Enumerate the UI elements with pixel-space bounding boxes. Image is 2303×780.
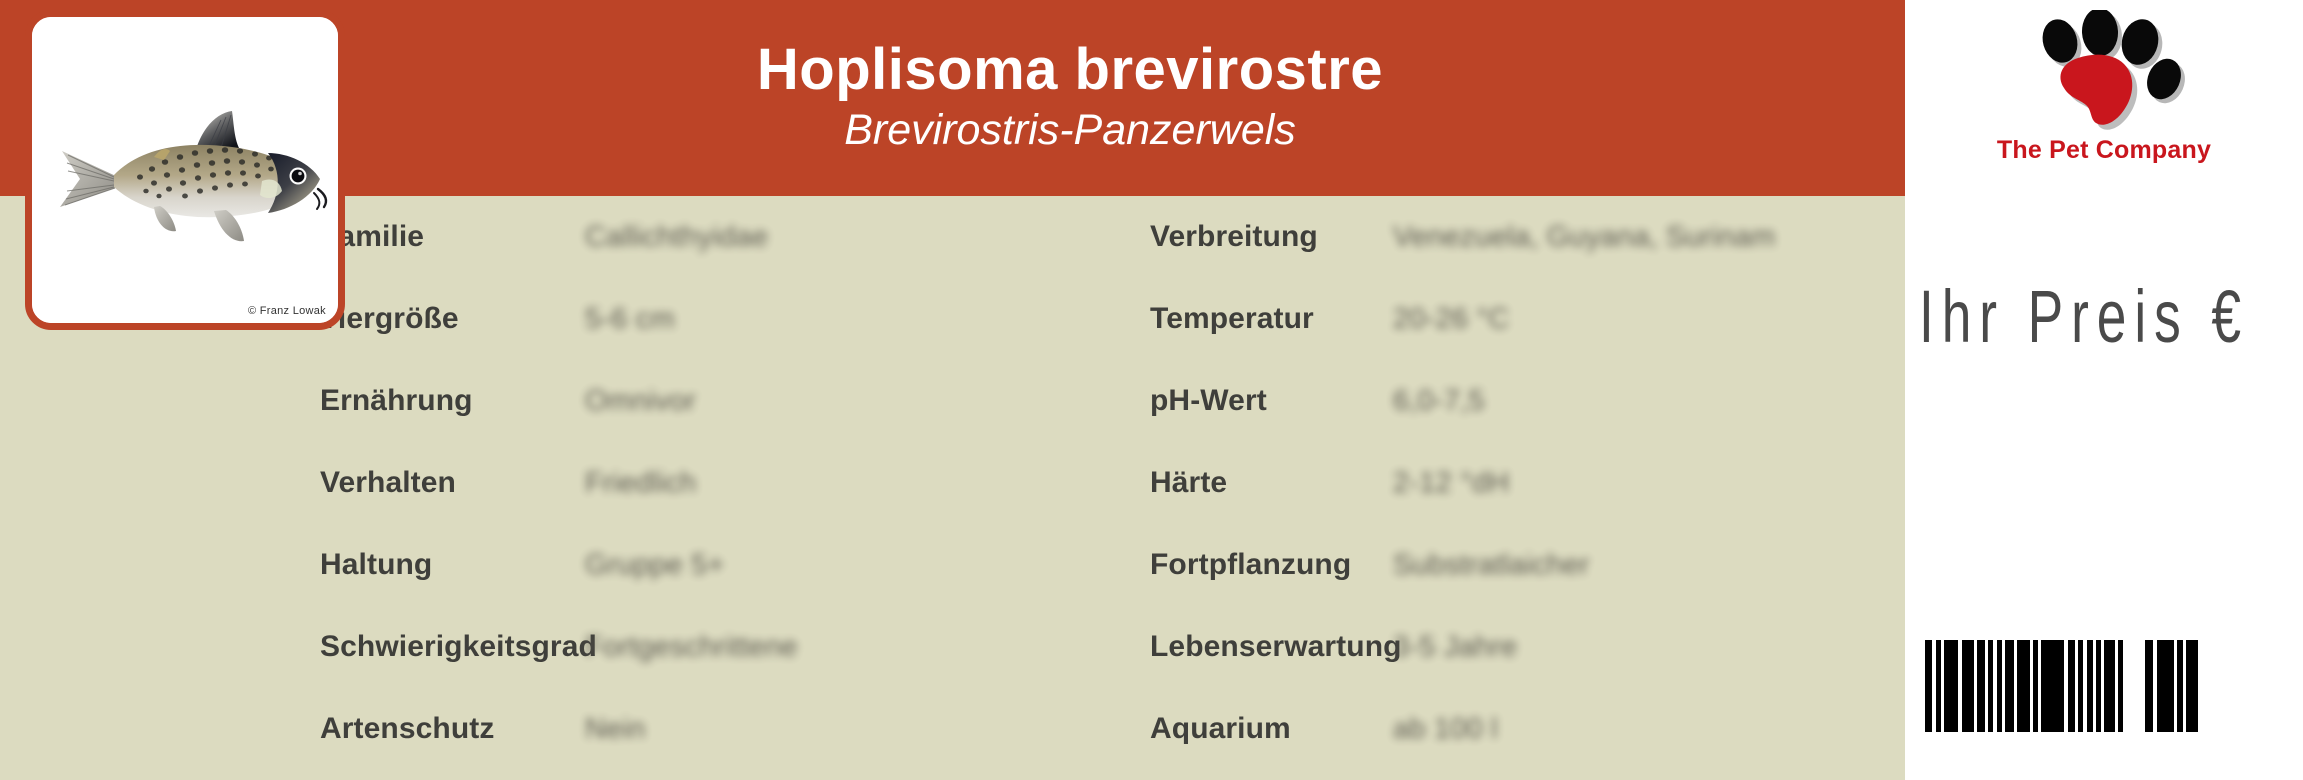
attribute-value-verhalten: Friedlich <box>585 467 696 500</box>
attribute-value-tiergroesse: 5-6 cm <box>585 303 675 336</box>
attribute-label-haltung: Haltung <box>320 548 585 582</box>
attribute-label-schwierigkeitsgrad: Schwierigkeitsgrad <box>320 630 585 664</box>
barcode-bar <box>1944 640 1958 732</box>
attribute-label-fortpflanzung: Fortpflanzung <box>1150 548 1393 582</box>
barcode-bar <box>2005 640 2014 732</box>
price-panel-edge <box>1905 776 2303 780</box>
attribute-value-artenschutz: Nein <box>585 713 645 746</box>
attribute-value-familie: Callichthyidae <box>585 221 768 254</box>
attribute-row-ph-wert: pH-Wert 6,0-7,5 <box>1150 360 1850 442</box>
attribute-column-left: Familie Callichthyidae Tiergröße 5-6 cm … <box>320 196 940 770</box>
attribute-column-right: Verbreitung Venezuela, Guyana, Surinam T… <box>1150 196 1850 770</box>
attribute-row-verbreitung: Verbreitung Venezuela, Guyana, Surinam <box>1150 196 1850 278</box>
barcode-bar <box>2145 640 2153 732</box>
price-panel: The Pet Company Ihr Preis € <box>1905 0 2303 780</box>
main-panel: Hoplisoma brevirostre Brevirostris-Panze… <box>0 0 1905 780</box>
attribute-row-ernaehrung: Ernährung Omnivor <box>320 360 940 442</box>
attribute-value-ernaehrung: Omnivor <box>585 385 696 418</box>
attribute-value-verbreitung: Venezuela, Guyana, Surinam <box>1393 221 1775 254</box>
barcode-bar <box>1977 640 1985 732</box>
attribute-row-aquarium: Aquarium ab 100 l <box>1150 688 1850 770</box>
barcode-bar <box>2068 640 2075 732</box>
common-name: Brevirostris-Panzerwels <box>844 106 1296 155</box>
attribute-label-ernaehrung: Ernährung <box>320 384 585 418</box>
catfish-illustration <box>36 103 345 253</box>
brand-name: The Pet Company <box>1905 136 2303 165</box>
barcode <box>1925 640 2285 732</box>
title-block: Hoplisoma brevirostre Brevirostris-Panze… <box>320 0 1880 196</box>
attribute-row-tiergroesse: Tiergröße 5-6 cm <box>320 278 940 360</box>
price-label: Ihr Preis € <box>1919 268 2221 364</box>
attribute-row-temperatur: Temperatur 20-26 °C <box>1150 278 1850 360</box>
card-bottom-edge <box>0 776 1905 780</box>
attribute-row-familie: Familie Callichthyidae <box>320 196 940 278</box>
attribute-row-haltung: Haltung Gruppe 5+ <box>320 524 940 606</box>
attribute-value-haerte: 2-12 °dH <box>1393 467 1509 500</box>
scientific-name: Hoplisoma brevirostre <box>757 40 1383 100</box>
attribute-label-artenschutz: Artenschutz <box>320 712 585 746</box>
barcode-space <box>2123 640 2145 732</box>
attribute-row-haerte: Härte 2-12 °dH <box>1150 442 1850 524</box>
attribute-label-verhalten: Verhalten <box>320 466 585 500</box>
attribute-label-haerte: Härte <box>1150 466 1393 500</box>
attribute-label-temperatur: Temperatur <box>1150 302 1393 336</box>
attribute-label-ph-wert: pH-Wert <box>1150 384 1393 418</box>
barcode-bar <box>1925 640 1932 732</box>
barcode-bar <box>2017 640 2030 732</box>
attribute-value-lebenserwartung: 3-5 Jahre <box>1393 631 1517 664</box>
attribute-row-fortpflanzung: Fortpflanzung Substratlaicher <box>1150 524 1850 606</box>
photo-background: © Franz Lowak <box>32 17 338 323</box>
attribute-label-lebenserwartung: Lebenserwartung <box>1150 630 1393 664</box>
attribute-row-schwierigkeitsgrad: Schwierigkeitsgrad Fortgeschrittene <box>320 606 940 688</box>
barcode-bar <box>2186 640 2198 732</box>
species-photo-tile: © Franz Lowak <box>25 10 345 330</box>
barcode-bar <box>2104 640 2115 732</box>
attribute-value-schwierigkeitsgrad: Fortgeschrittene <box>585 631 798 664</box>
barcode-bar <box>2157 640 2174 732</box>
attribute-row-artenschutz: Artenschutz Nein <box>320 688 940 770</box>
attribute-value-aquarium: ab 100 l <box>1393 713 1498 746</box>
attribute-row-lebenserwartung: Lebenserwartung 3-5 Jahre <box>1150 606 1850 688</box>
attribute-value-ph-wert: 6,0-7,5 <box>1393 385 1485 418</box>
attribute-value-haltung: Gruppe 5+ <box>585 549 725 582</box>
brand-logo: The Pet Company <box>1905 8 2303 198</box>
attribute-label-verbreitung: Verbreitung <box>1150 220 1393 254</box>
species-info-card: Hoplisoma brevirostre Brevirostris-Panze… <box>0 0 2303 780</box>
attribute-value-temperatur: 20-26 °C <box>1393 303 1509 336</box>
attribute-label-familie: Familie <box>320 220 585 254</box>
attribute-label-aquarium: Aquarium <box>1150 712 1393 746</box>
paw-print-icon <box>2000 10 2210 135</box>
attribute-value-fortpflanzung: Substratlaicher <box>1393 549 1589 582</box>
attribute-row-verhalten: Verhalten Friedlich <box>320 442 940 524</box>
photo-credit: © Franz Lowak <box>248 305 326 317</box>
barcode-bar <box>2041 640 2064 732</box>
attribute-label-tiergroesse: Tiergröße <box>320 302 585 336</box>
barcode-bar <box>1962 640 1974 732</box>
